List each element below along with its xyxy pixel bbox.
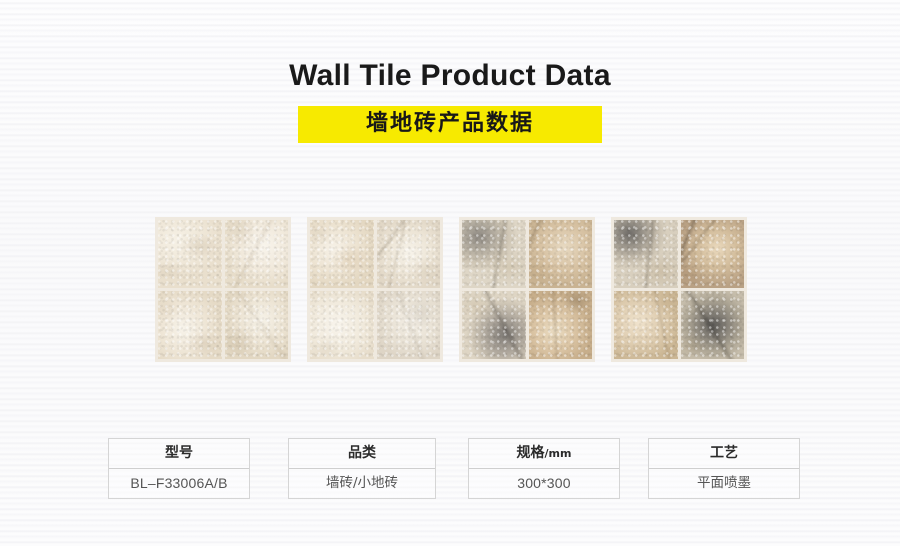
tile-cell bbox=[529, 220, 593, 288]
spec-header-category: 品类 bbox=[289, 439, 435, 469]
spec-header-size-label: 规格 bbox=[517, 445, 545, 461]
spec-header-model: 型号 bbox=[109, 439, 249, 469]
spec-header-process-label: 工艺 bbox=[710, 445, 738, 461]
subtitle-highlight-band: 墙地砖产品数据 bbox=[0, 106, 900, 143]
tile-cell bbox=[310, 220, 374, 288]
tile-cell bbox=[681, 220, 745, 288]
spec-column-size: 规格/mm 300*300 bbox=[468, 438, 620, 499]
spec-header-category-label: 品类 bbox=[348, 445, 376, 461]
spec-value-size: 300*300 bbox=[469, 469, 619, 498]
spec-header-size-unit: /mm bbox=[545, 447, 572, 460]
spec-value-model: BL–F33006A/B bbox=[109, 469, 249, 498]
tile-cell bbox=[614, 220, 678, 288]
spec-column-process: 工艺 平面喷墨 bbox=[648, 438, 800, 499]
tile-cell bbox=[377, 220, 441, 288]
spec-column-category: 品类 墙砖/小地砖 bbox=[288, 438, 436, 499]
page-header: Wall Tile Product Data 墙地砖产品数据 bbox=[0, 58, 900, 143]
spec-column-model: 型号 BL–F33006A/B bbox=[108, 438, 250, 499]
tile-cell bbox=[158, 220, 222, 288]
spec-table: 型号 BL–F33006A/B 品类 墙砖/小地砖 规格/mm 300*300 … bbox=[108, 438, 808, 499]
spec-header-size: 规格/mm bbox=[469, 439, 619, 469]
tile-cell bbox=[158, 291, 222, 359]
tile-swatch-2[interactable] bbox=[307, 217, 443, 362]
spec-header-model-label: 型号 bbox=[165, 445, 193, 461]
tile-swatch-3[interactable] bbox=[459, 217, 595, 362]
page-subtitle: 墙地砖产品数据 bbox=[298, 106, 602, 143]
tile-cell bbox=[529, 291, 593, 359]
tile-cell bbox=[225, 291, 289, 359]
spec-value-category: 墙砖/小地砖 bbox=[289, 469, 435, 498]
tile-swatch-4[interactable] bbox=[611, 217, 747, 362]
tile-cell bbox=[225, 220, 289, 288]
tile-cell bbox=[681, 291, 745, 359]
tile-cell bbox=[614, 291, 678, 359]
spec-header-process: 工艺 bbox=[649, 439, 799, 469]
tile-cell bbox=[377, 291, 441, 359]
tile-cell bbox=[462, 291, 526, 359]
product-data-page: Wall Tile Product Data 墙地砖产品数据 bbox=[0, 0, 900, 546]
page-title: Wall Tile Product Data bbox=[0, 58, 900, 94]
tile-swatch-1[interactable] bbox=[155, 217, 291, 362]
tile-cell bbox=[462, 220, 526, 288]
tile-gallery bbox=[155, 217, 747, 362]
spec-value-process: 平面喷墨 bbox=[649, 469, 799, 498]
tile-cell bbox=[310, 291, 374, 359]
